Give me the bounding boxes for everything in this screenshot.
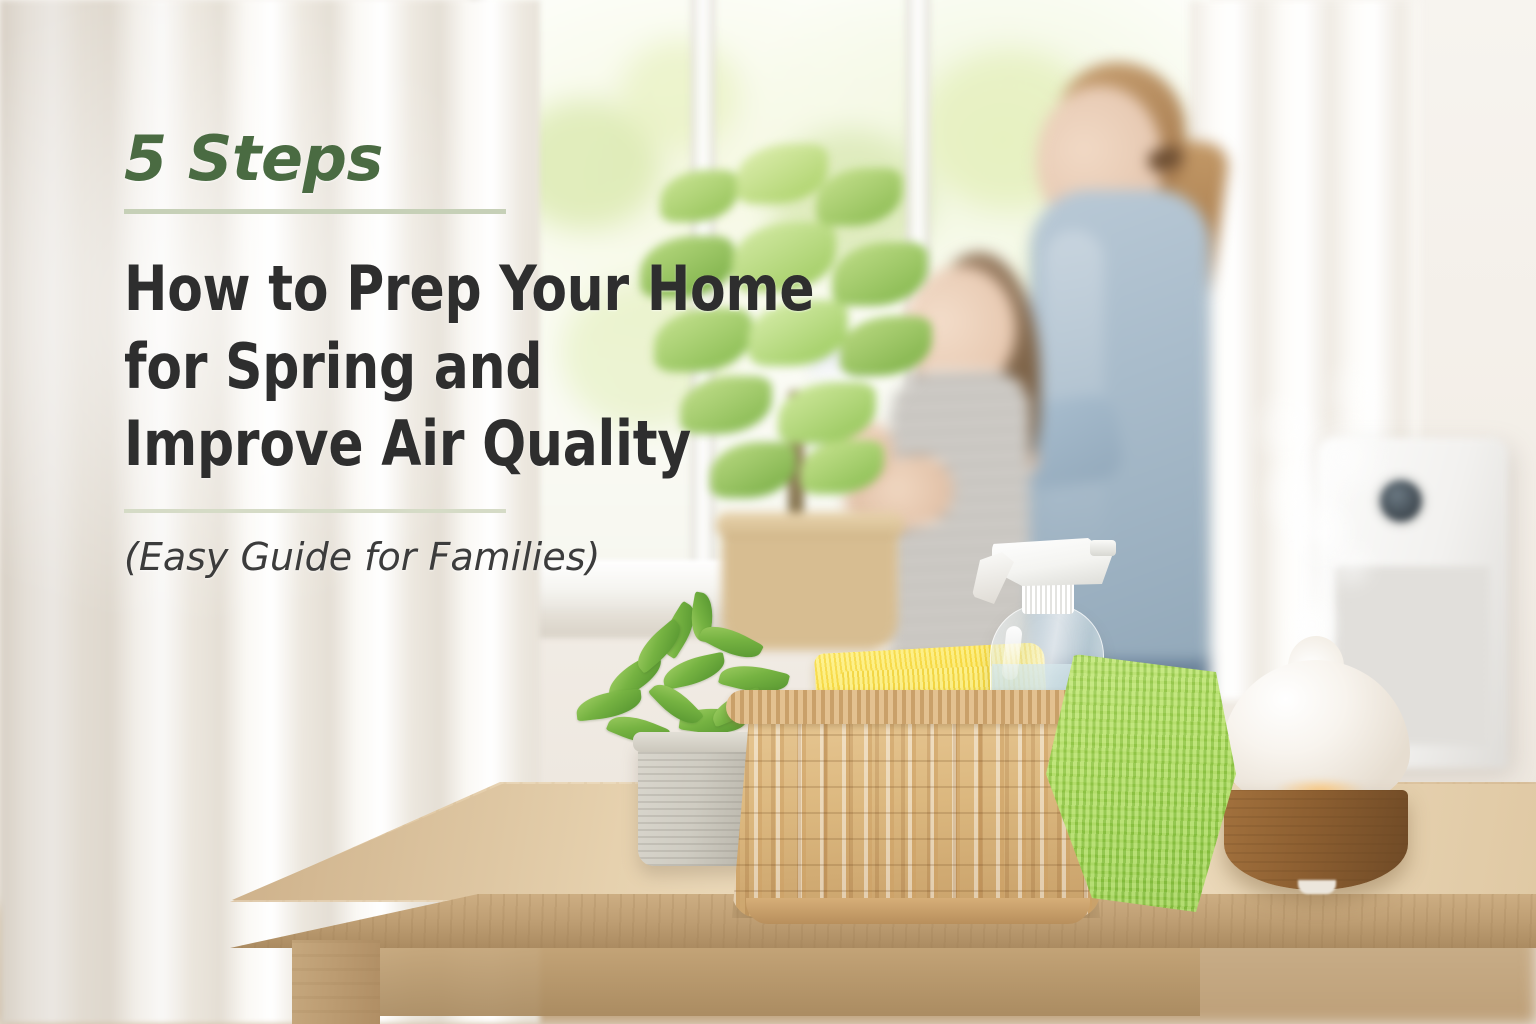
page-title-line-1: How to Prep Your Home (124, 250, 775, 328)
eyebrow-label: 5 Steps (124, 128, 824, 190)
basket-base (746, 898, 1090, 924)
basket-rim (726, 690, 1106, 724)
hero-banner: 5 Steps How to Prep Your Home for Spring… (0, 0, 1536, 1024)
divider-top (124, 209, 506, 214)
subtitle: (Easy Guide for Families) (124, 535, 824, 581)
divider-bottom-wrap (124, 509, 824, 513)
page-title: How to Prep Your Home for Spring and Imp… (124, 250, 775, 483)
air-purifier-power-dial-icon (1380, 480, 1422, 522)
page-title-line-3: Improve Air Quality (124, 405, 775, 483)
table-apron (380, 946, 1200, 1016)
basket-weave-texture (732, 706, 1100, 918)
diffuser-foot (1298, 880, 1336, 894)
page-title-line-2: for Spring and (124, 328, 775, 406)
diffuser-wood-base (1224, 790, 1408, 890)
table-leg (292, 940, 380, 1024)
banner-text-block: 5 Steps How to Prep Your Home for Spring… (124, 128, 824, 580)
essential-oil-diffuser (1216, 636, 1416, 904)
wicker-basket (726, 672, 1110, 940)
divider-bottom (124, 509, 506, 513)
spray-bottle-nozzle-icon (1090, 540, 1116, 556)
